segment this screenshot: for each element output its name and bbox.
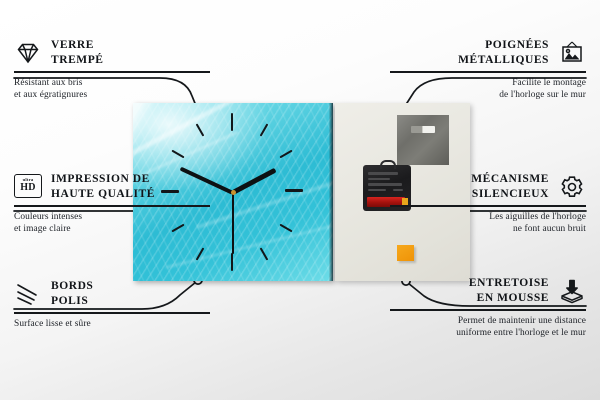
hour-tick	[196, 123, 205, 136]
divider	[14, 312, 210, 313]
divider	[14, 205, 210, 206]
gear-icon	[558, 174, 586, 200]
framed-picture-icon	[558, 40, 586, 66]
hour-tick	[231, 113, 233, 131]
second-hand	[232, 192, 234, 254]
callout-subtitle: Résistant aux bris et aux égratignures	[14, 77, 210, 102]
callout-impression-hd: ultra HD IMPRESSION DE HAUTE QUALITÉ Cou…	[14, 172, 210, 236]
divider	[390, 71, 586, 72]
mechanism-hook	[380, 160, 396, 169]
polished-edge-icon	[14, 281, 42, 307]
callout-subtitle: Surface lisse et sûre	[14, 318, 210, 331]
callout-poignees-metalliques: POIGNÉES MÉTALLIQUES Facilite le montage…	[390, 38, 586, 102]
clock-center-cap	[231, 190, 236, 195]
hour-tick	[260, 123, 269, 136]
callout-title: VERRE TREMPÉ	[51, 38, 104, 67]
callout-mecanisme-silencieux: MÉCANISME SILENCIEUX Les aiguilles de l'…	[390, 172, 586, 236]
hour-hand	[232, 168, 277, 195]
callout-title: BORDS POLIS	[51, 279, 93, 308]
divider	[390, 205, 586, 206]
callout-bords-polis: BORDS POLIS Surface lisse et sûre	[14, 279, 210, 330]
callout-verre-trempe: VERRE TREMPÉ Résistant aux bris et aux é…	[14, 38, 210, 102]
diamond-icon	[14, 40, 42, 66]
ultra-hd-icon: ultra HD	[14, 174, 42, 200]
callout-title: ENTRETOISE EN MOUSSE	[469, 276, 549, 305]
callout-subtitle: Les aiguilles de l'horloge ne font aucun…	[390, 211, 586, 236]
hour-tick	[279, 224, 292, 233]
metal-hanger-plate	[397, 115, 449, 165]
infographic-canvas: VERRE TREMPÉ Résistant aux bris et aux é…	[0, 0, 600, 400]
hour-tick	[279, 150, 292, 159]
callout-title: IMPRESSION DE HAUTE QUALITÉ	[51, 172, 155, 201]
callout-subtitle: Facilite le montage de l'horloge sur le …	[390, 77, 586, 102]
divider	[390, 309, 586, 310]
divider	[14, 71, 210, 72]
hour-tick	[260, 247, 269, 260]
callout-subtitle: Couleurs intenses et image claire	[14, 211, 210, 236]
callout-subtitle: Permet de maintenir une distance uniform…	[390, 315, 586, 340]
foam-spacer-icon	[558, 278, 586, 304]
callout-entretoise-mousse: ENTRETOISE EN MOUSSE Permet de maintenir…	[390, 276, 586, 340]
hour-tick	[285, 189, 303, 192]
foam-spacer	[397, 245, 414, 261]
hour-tick	[231, 253, 233, 271]
callout-title: MÉCANISME SILENCIEUX	[471, 172, 549, 201]
callout-title: POIGNÉES MÉTALLIQUES	[458, 38, 549, 67]
